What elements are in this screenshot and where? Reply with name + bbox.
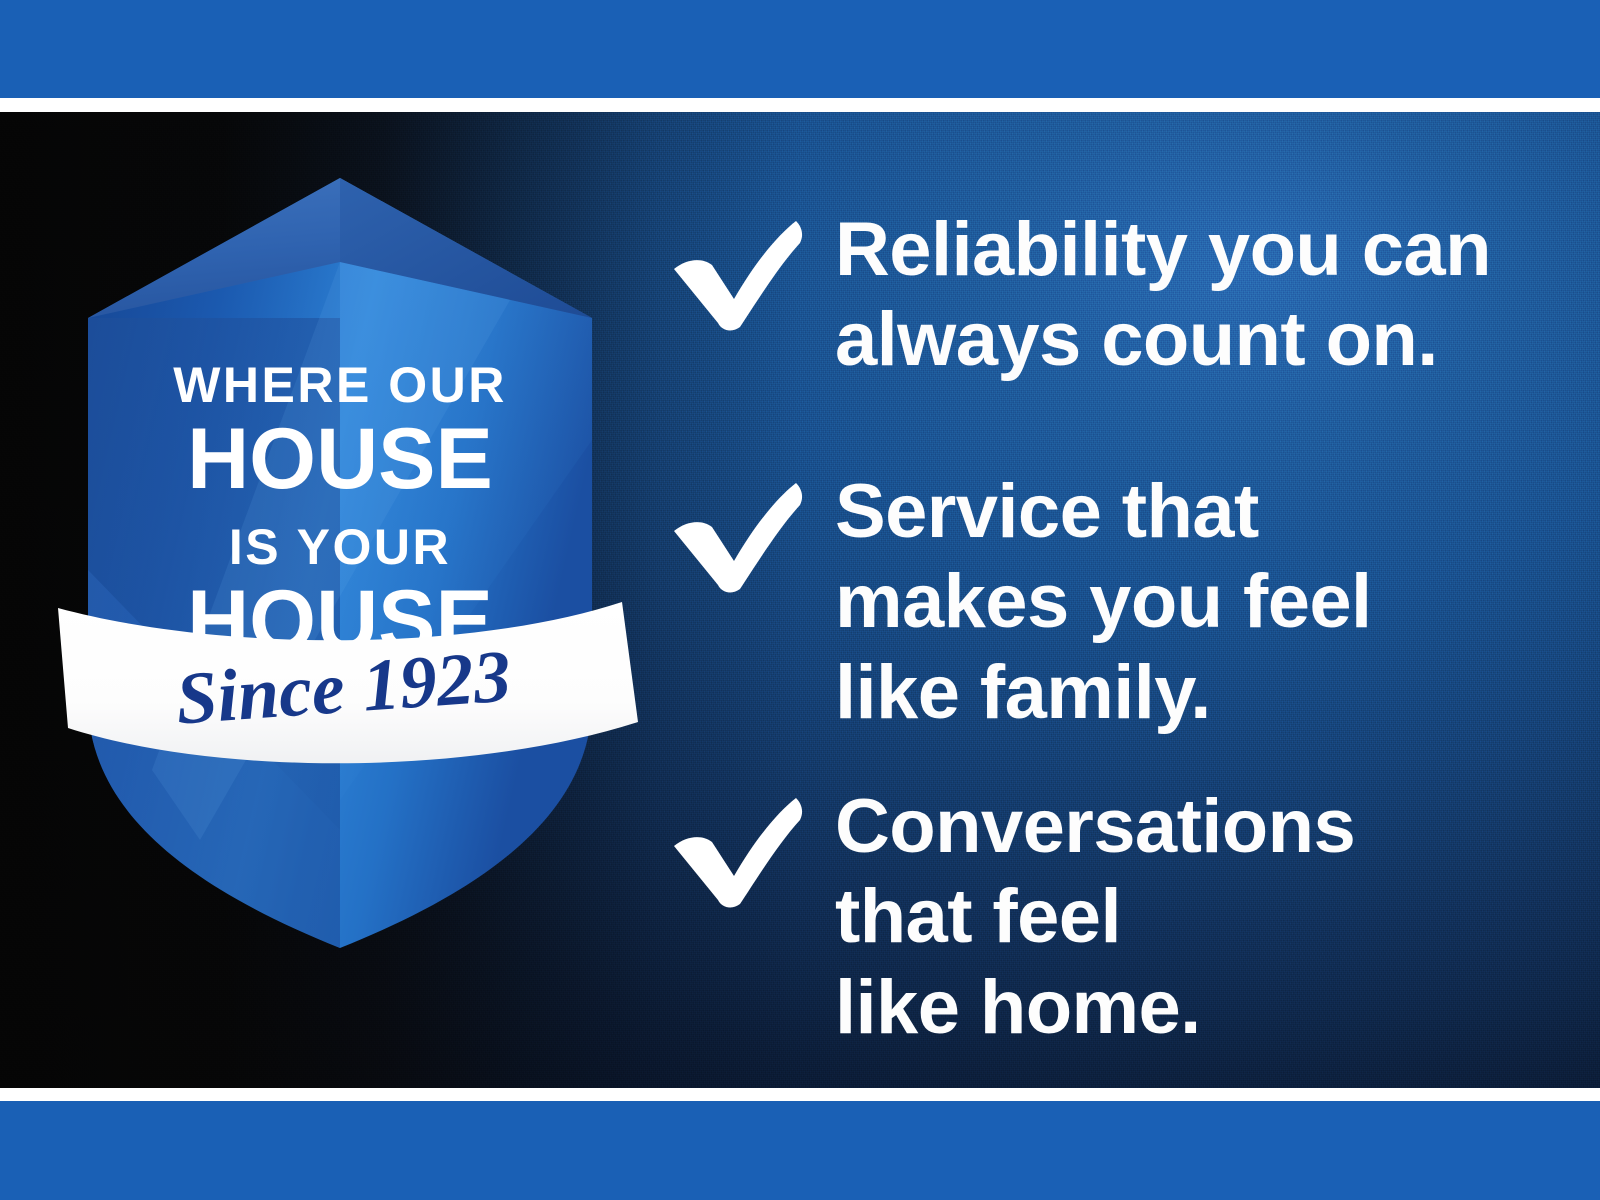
benefit-item: Conversations that feel like home. [660, 782, 1600, 1053]
logo-line-3: IS YOUR [229, 519, 451, 575]
top-brand-bar [0, 0, 1600, 98]
benefit-text: Conversations that feel like home. [835, 782, 1600, 1053]
logo-line-1: WHERE OUR [173, 357, 507, 413]
benefits-list: Reliability you can always count on. Ser… [660, 112, 1600, 1088]
benefit-item: Service that makes you feel like family. [660, 467, 1600, 738]
check-icon [660, 467, 835, 595]
benefit-item: Reliability you can always count on. [660, 205, 1600, 386]
shield-logo: WHERE OUR HOUSE IS YOUR HOUSE Since 1923 [40, 140, 640, 950]
promo-graphic: WHERE OUR HOUSE IS YOUR HOUSE Since 1923… [0, 0, 1600, 1200]
check-icon [660, 782, 835, 910]
benefit-text: Reliability you can always count on. [835, 205, 1600, 386]
bottom-brand-bar [0, 1101, 1600, 1200]
check-icon [660, 205, 835, 333]
logo-line-2: HOUSE [187, 411, 493, 507]
benefit-text: Service that makes you feel like family. [835, 467, 1600, 738]
